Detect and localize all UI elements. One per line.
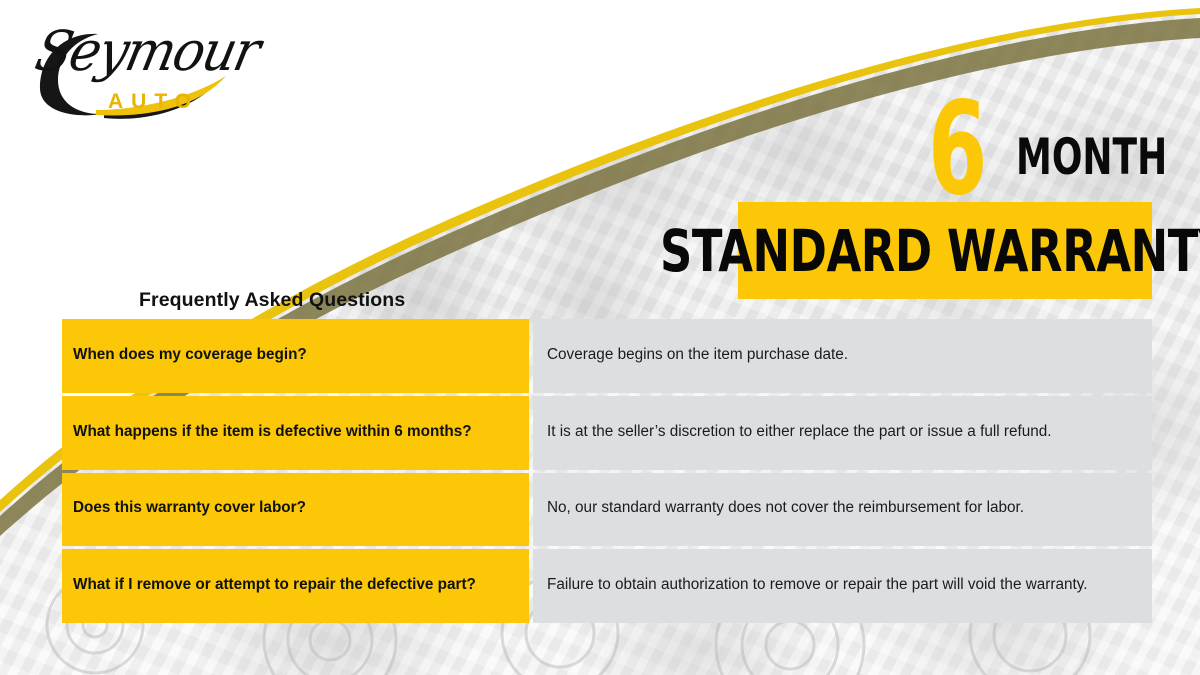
faq-question-text: When does my coverage begin? bbox=[73, 345, 307, 365]
faq-answer-text: Failure to obtain authorization to remov… bbox=[547, 575, 1139, 596]
faq-answer-cell: Coverage begins on the item purchase dat… bbox=[533, 319, 1152, 393]
seymour-auto-logo: Seymour AUTO bbox=[22, 18, 232, 123]
faq-answer-text: Coverage begins on the item purchase dat… bbox=[547, 345, 1139, 366]
faq-heading: Frequently Asked Questions bbox=[139, 289, 405, 312]
duration-number: 6 bbox=[928, 100, 986, 200]
warranty-banner-text: STANDARD WARRANTY bbox=[660, 222, 1200, 280]
faq-question-text: What if I remove or attempt to repair th… bbox=[73, 575, 476, 595]
faq-question-cell: Does this warranty cover labor? bbox=[62, 473, 529, 546]
logo-script-text: Seymour bbox=[30, 20, 264, 84]
faq-answer-cell: It is at the seller’s discretion to eith… bbox=[533, 396, 1152, 470]
faq-answer-text: No, our standard warranty does not cover… bbox=[547, 498, 1139, 519]
faq-answer-cell: No, our standard warranty does not cover… bbox=[533, 473, 1152, 546]
faq-question-cell: What happens if the item is defective wi… bbox=[62, 396, 529, 470]
warranty-banner: STANDARD WARRANTY bbox=[738, 202, 1152, 299]
table-row: When does my coverage begin? Coverage be… bbox=[62, 319, 1152, 393]
faq-answer-text: It is at the seller’s discretion to eith… bbox=[547, 422, 1139, 443]
table-row: Does this warranty cover labor? No, our … bbox=[62, 473, 1152, 546]
table-row: What if I remove or attempt to repair th… bbox=[62, 549, 1152, 623]
logo-auto-text: AUTO bbox=[108, 90, 199, 114]
faq-question-cell: When does my coverage begin? bbox=[62, 319, 529, 393]
faq-question-text: Does this warranty cover labor? bbox=[73, 498, 306, 518]
faq-question-text: What happens if the item is defective wi… bbox=[73, 422, 472, 442]
duration-unit: MONTH bbox=[1016, 132, 1167, 182]
table-row: What happens if the item is defective wi… bbox=[62, 396, 1152, 470]
faq-answer-cell: Failure to obtain authorization to remov… bbox=[533, 549, 1152, 623]
warranty-slide: Seymour AUTO 6 MONTH STANDARD WARRANTY F… bbox=[0, 0, 1200, 675]
faq-table: When does my coverage begin? Coverage be… bbox=[62, 319, 1152, 623]
faq-question-cell: What if I remove or attempt to repair th… bbox=[62, 549, 529, 623]
duration-headline: 6 MONTH bbox=[928, 74, 1178, 194]
